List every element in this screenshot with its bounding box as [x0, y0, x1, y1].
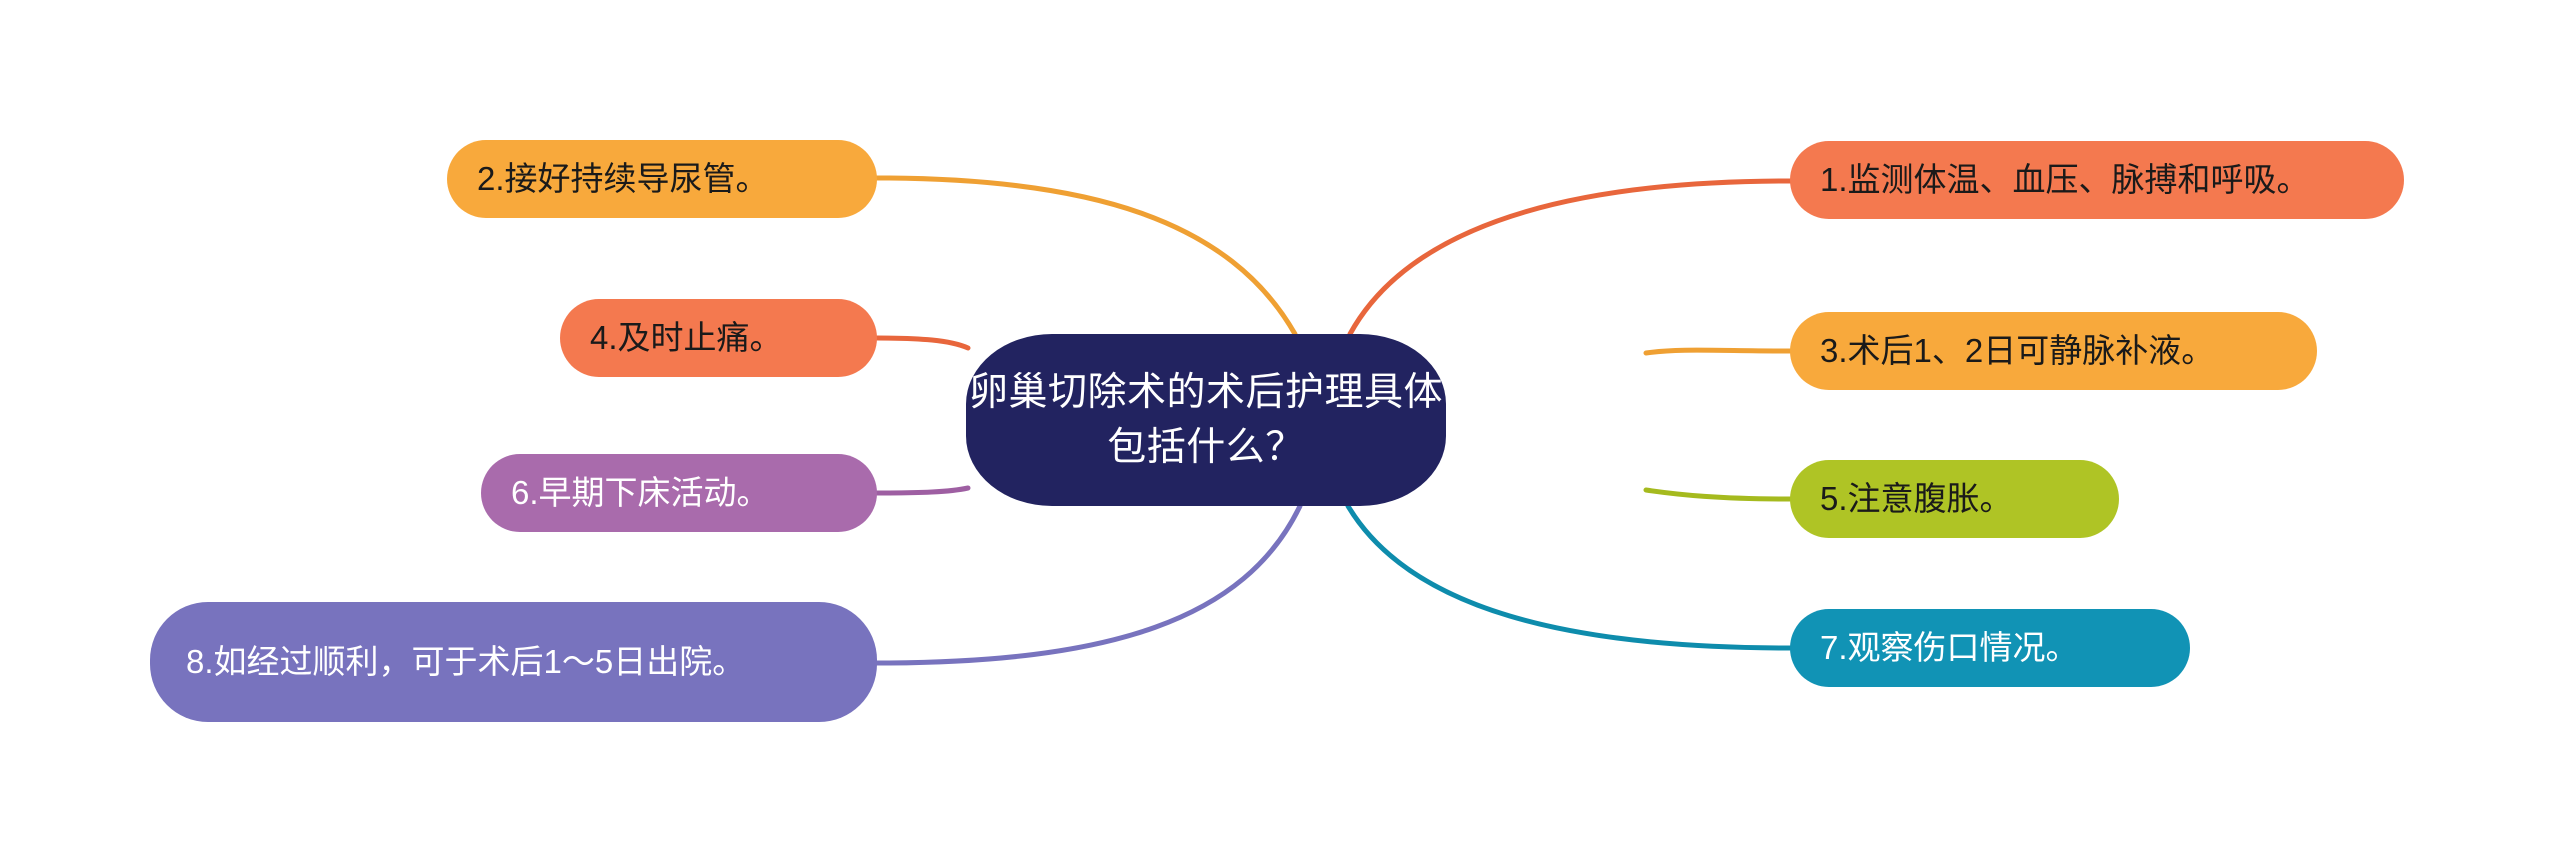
connector-node-1 [1350, 181, 1790, 334]
branch-node-2[interactable]: 2.接好持续导尿管。 [447, 140, 877, 218]
branch-node-5-label: 5.注意腹胀。 [1820, 478, 2089, 520]
branch-node-7-label: 7.观察伤口情况。 [1820, 627, 2160, 669]
connector-node-2 [877, 178, 1295, 334]
branch-node-1-label: 1.监测体温、血压、脉搏和呼吸。 [1820, 159, 2374, 201]
connector-node-8 [877, 506, 1300, 663]
branch-node-8-label: 8.如经过顺利，可于术后1～5日出院。 [186, 639, 841, 685]
branch-node-3[interactable]: 3.术后1、2日可静脉补液。 [1790, 312, 2317, 390]
branch-node-8[interactable]: 8.如经过顺利，可于术后1～5日出院。 [150, 602, 877, 722]
central-topic-label: 卵巢切除术的术后护理具体包括什么？ [966, 365, 1446, 476]
branch-node-4[interactable]: 4.及时止痛。 [560, 299, 877, 377]
branch-node-2-label: 2.接好持续导尿管。 [477, 158, 847, 200]
branch-node-5[interactable]: 5.注意腹胀。 [1790, 460, 2119, 538]
connector-node-7 [1348, 506, 1790, 648]
connector-node-4 [877, 338, 968, 348]
connector-node-6 [877, 488, 968, 493]
branch-node-6[interactable]: 6.早期下床活动。 [481, 454, 877, 532]
branch-node-6-label: 6.早期下床活动。 [511, 472, 847, 514]
mindmap-canvas: 卵巢切除术的术后护理具体包括什么？ 1.监测体温、血压、脉搏和呼吸。 3.术后1… [0, 0, 2560, 861]
branch-node-1[interactable]: 1.监测体温、血压、脉搏和呼吸。 [1790, 141, 2404, 219]
connector-node-5 [1646, 490, 1790, 499]
central-topic-node[interactable]: 卵巢切除术的术后护理具体包括什么？ [966, 334, 1446, 506]
branch-node-7[interactable]: 7.观察伤口情况。 [1790, 609, 2190, 687]
branch-node-4-label: 4.及时止痛。 [590, 317, 847, 359]
connector-node-3 [1646, 350, 1790, 353]
branch-node-3-label: 3.术后1、2日可静脉补液。 [1820, 330, 2287, 372]
